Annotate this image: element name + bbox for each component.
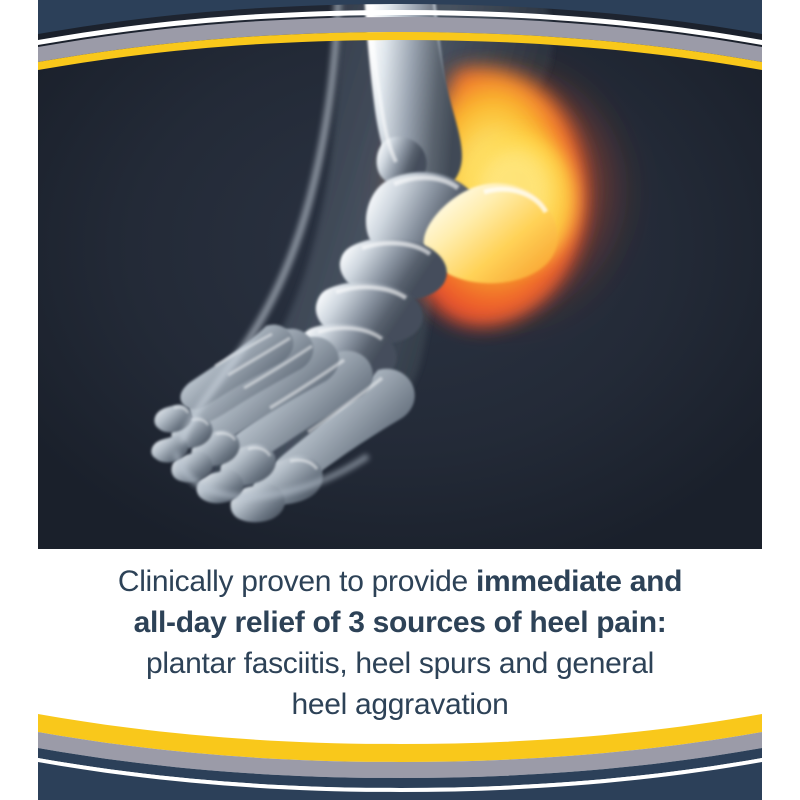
caption-line-1: Clinically proven to provide immediate a… [118, 561, 682, 602]
bottom-arc-decoration [38, 700, 762, 800]
foot-xray-illustration [38, 0, 762, 549]
banner-card: Clinically proven to provide immediate a… [38, 0, 762, 800]
foot-xray-image [38, 0, 762, 549]
bottom-arc-svg [38, 700, 762, 800]
caption-line-1-bold: immediate and [476, 565, 682, 598]
right-page-margin [762, 0, 800, 800]
top-arc-decoration [38, 0, 762, 70]
top-arc-svg [38, 0, 762, 70]
banner-root: Clinically proven to provide immediate a… [0, 0, 800, 800]
caption-line-1-regular: Clinically proven to provide [118, 565, 476, 598]
caption-line-2: all-day relief of 3 sources of heel pain… [134, 602, 667, 643]
caption-line-3: plantar fasciitis, heel spurs and genera… [146, 643, 654, 684]
left-page-margin [0, 0, 38, 800]
